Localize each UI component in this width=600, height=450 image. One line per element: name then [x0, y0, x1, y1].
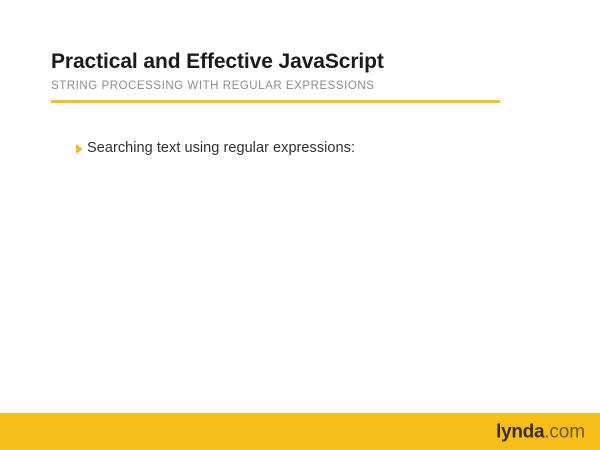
list-item: Searching text using regular expressions… — [76, 139, 546, 157]
presentation-slide: Practical and Effective JavaScript STRIN… — [0, 0, 600, 450]
triangle-right-icon — [76, 144, 87, 154]
slide-subtitle: STRING PROCESSING WITH REGULAR EXPRESSIO… — [51, 80, 500, 92]
brand-logo-tld: .com — [544, 421, 585, 442]
brand-logo: lynda.com — [496, 422, 585, 441]
slide-body: Searching text using regular expressions… — [76, 139, 546, 167]
footer-bar: lynda.com — [0, 413, 600, 450]
page-title: Practical and Effective JavaScript — [51, 50, 500, 73]
slide-header: Practical and Effective JavaScript STRIN… — [51, 50, 500, 103]
accent-divider — [51, 100, 500, 103]
list-item-label: Searching text using regular expressions… — [87, 139, 355, 157]
brand-logo-name: lynda — [496, 421, 544, 442]
